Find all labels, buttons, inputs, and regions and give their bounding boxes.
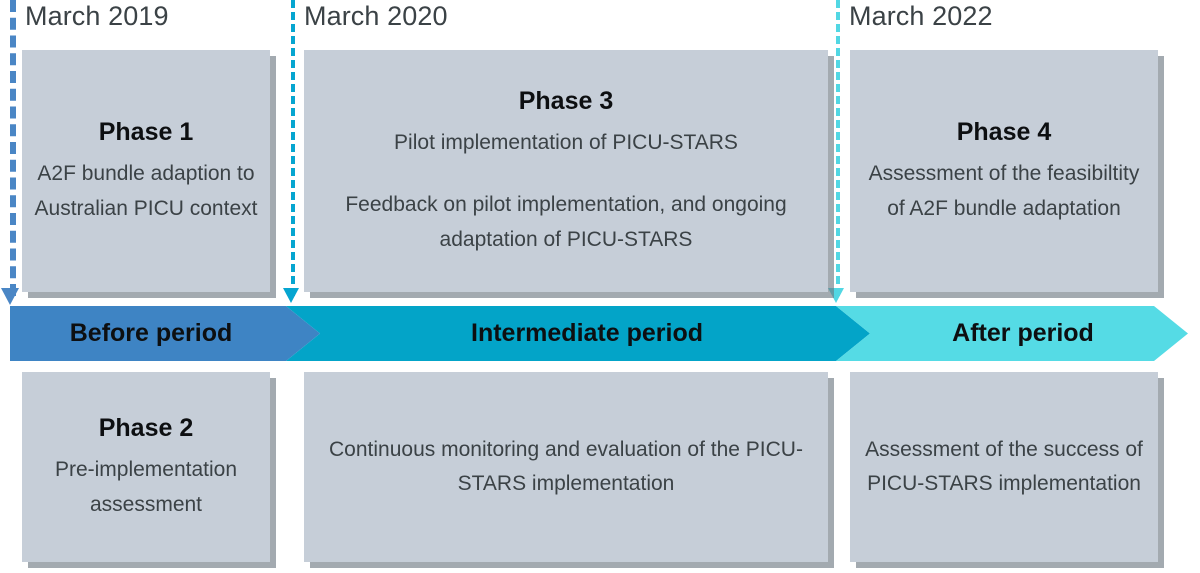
phase-1-title: Phase 1: [99, 116, 194, 148]
phase-2-body-1: Pre-implementation assessment: [32, 453, 260, 521]
period-band: Before period Intermediate period After …: [10, 306, 1188, 361]
timeline-diagram: March 2019 March 2020 March 2022 Phase 1…: [0, 0, 1200, 573]
phase-box-phase-4: Phase 4 Assessment of the feasibiltity o…: [850, 50, 1158, 292]
dashed-line-2019: [10, 0, 16, 296]
phase-3-title: Phase 3: [519, 85, 614, 117]
date-label-march-2022: March 2022: [849, 1, 993, 32]
dashed-line-2020: [291, 0, 295, 296]
phase-box-continuous-monitoring: Continuous monitoring and evaluation of …: [304, 372, 828, 562]
phase-box-phase-1: Phase 1 A2F bundle adaption to Australia…: [22, 50, 270, 292]
dashed-line-2022: [836, 0, 840, 296]
period-label-before: Before period: [70, 319, 261, 348]
down-arrow-icon-2020: [283, 288, 299, 303]
period-label-intermediate: Intermediate period: [453, 319, 703, 348]
period-segment-after[interactable]: After period: [836, 306, 1188, 361]
phase-1-body-1: A2F bundle adaption to Australian PICU c…: [32, 157, 260, 225]
down-arrow-icon-2022: [828, 288, 844, 303]
down-arrow-icon-2019: [1, 288, 19, 305]
date-label-march-2019: March 2019: [25, 1, 169, 32]
phase-box-success-assessment: Assessment of the success of PICU-STARS …: [850, 372, 1158, 562]
phase-4-title: Phase 4: [957, 116, 1052, 148]
phase-4-body-1: Assessment of the feasibiltity of A2F bu…: [860, 157, 1148, 225]
phase-box-phase-2: Phase 2 Pre-implementation assessment: [22, 372, 270, 562]
period-segment-before[interactable]: Before period: [10, 306, 320, 361]
phase-3-body-1: Pilot implementation of PICU-STARS: [394, 126, 738, 160]
date-label-march-2020: March 2020: [304, 1, 448, 32]
period-label-after: After period: [930, 319, 1094, 348]
continuous-monitoring-body-1: Continuous monitoring and evaluation of …: [326, 433, 806, 501]
period-segment-intermediate[interactable]: Intermediate period: [286, 306, 870, 361]
phase-3-body-2: Feedback on pilot implementation, and on…: [331, 188, 801, 256]
phase-2-title: Phase 2: [99, 412, 194, 444]
phase-box-phase-3: Phase 3 Pilot implementation of PICU-STA…: [304, 50, 828, 292]
success-assessment-body-1: Assessment of the success of PICU-STARS …: [860, 433, 1148, 501]
